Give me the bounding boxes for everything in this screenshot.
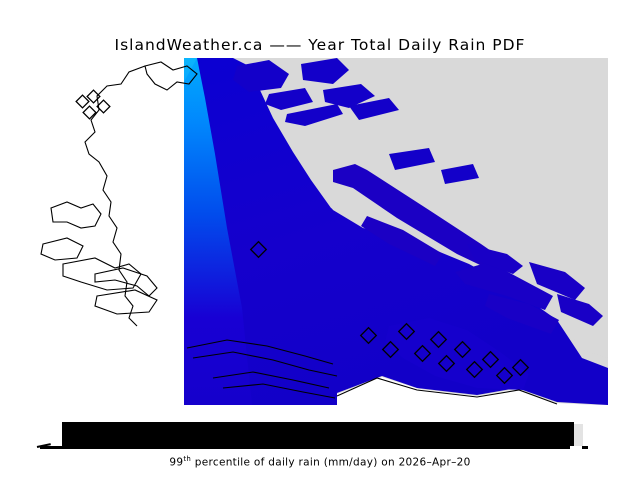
caption-description: percentile of daily rain (mm/day) on 202… <box>191 457 471 469</box>
colorbar-overflow-swatch <box>574 424 583 446</box>
page-title: IslandWeather.ca —— Year Total Daily Rai… <box>0 36 640 54</box>
colorbar[interactable] <box>37 422 608 448</box>
caption: 99th percentile of daily rain (mm/day) o… <box>0 455 640 469</box>
map-canvas[interactable] <box>37 58 608 405</box>
colorbar-gradient-bar[interactable] <box>62 422 574 446</box>
weather-figure: IslandWeather.ca —— Year Total Daily Rai… <box>0 0 640 480</box>
caption-percentile-value: 99 <box>169 457 183 469</box>
colorbar-tick-right <box>582 446 588 449</box>
map-panel[interactable] <box>37 58 608 405</box>
outside-domain-area <box>37 58 184 405</box>
caption-percentile-suffix: th <box>183 455 191 463</box>
colorbar-axis-line <box>40 446 570 449</box>
